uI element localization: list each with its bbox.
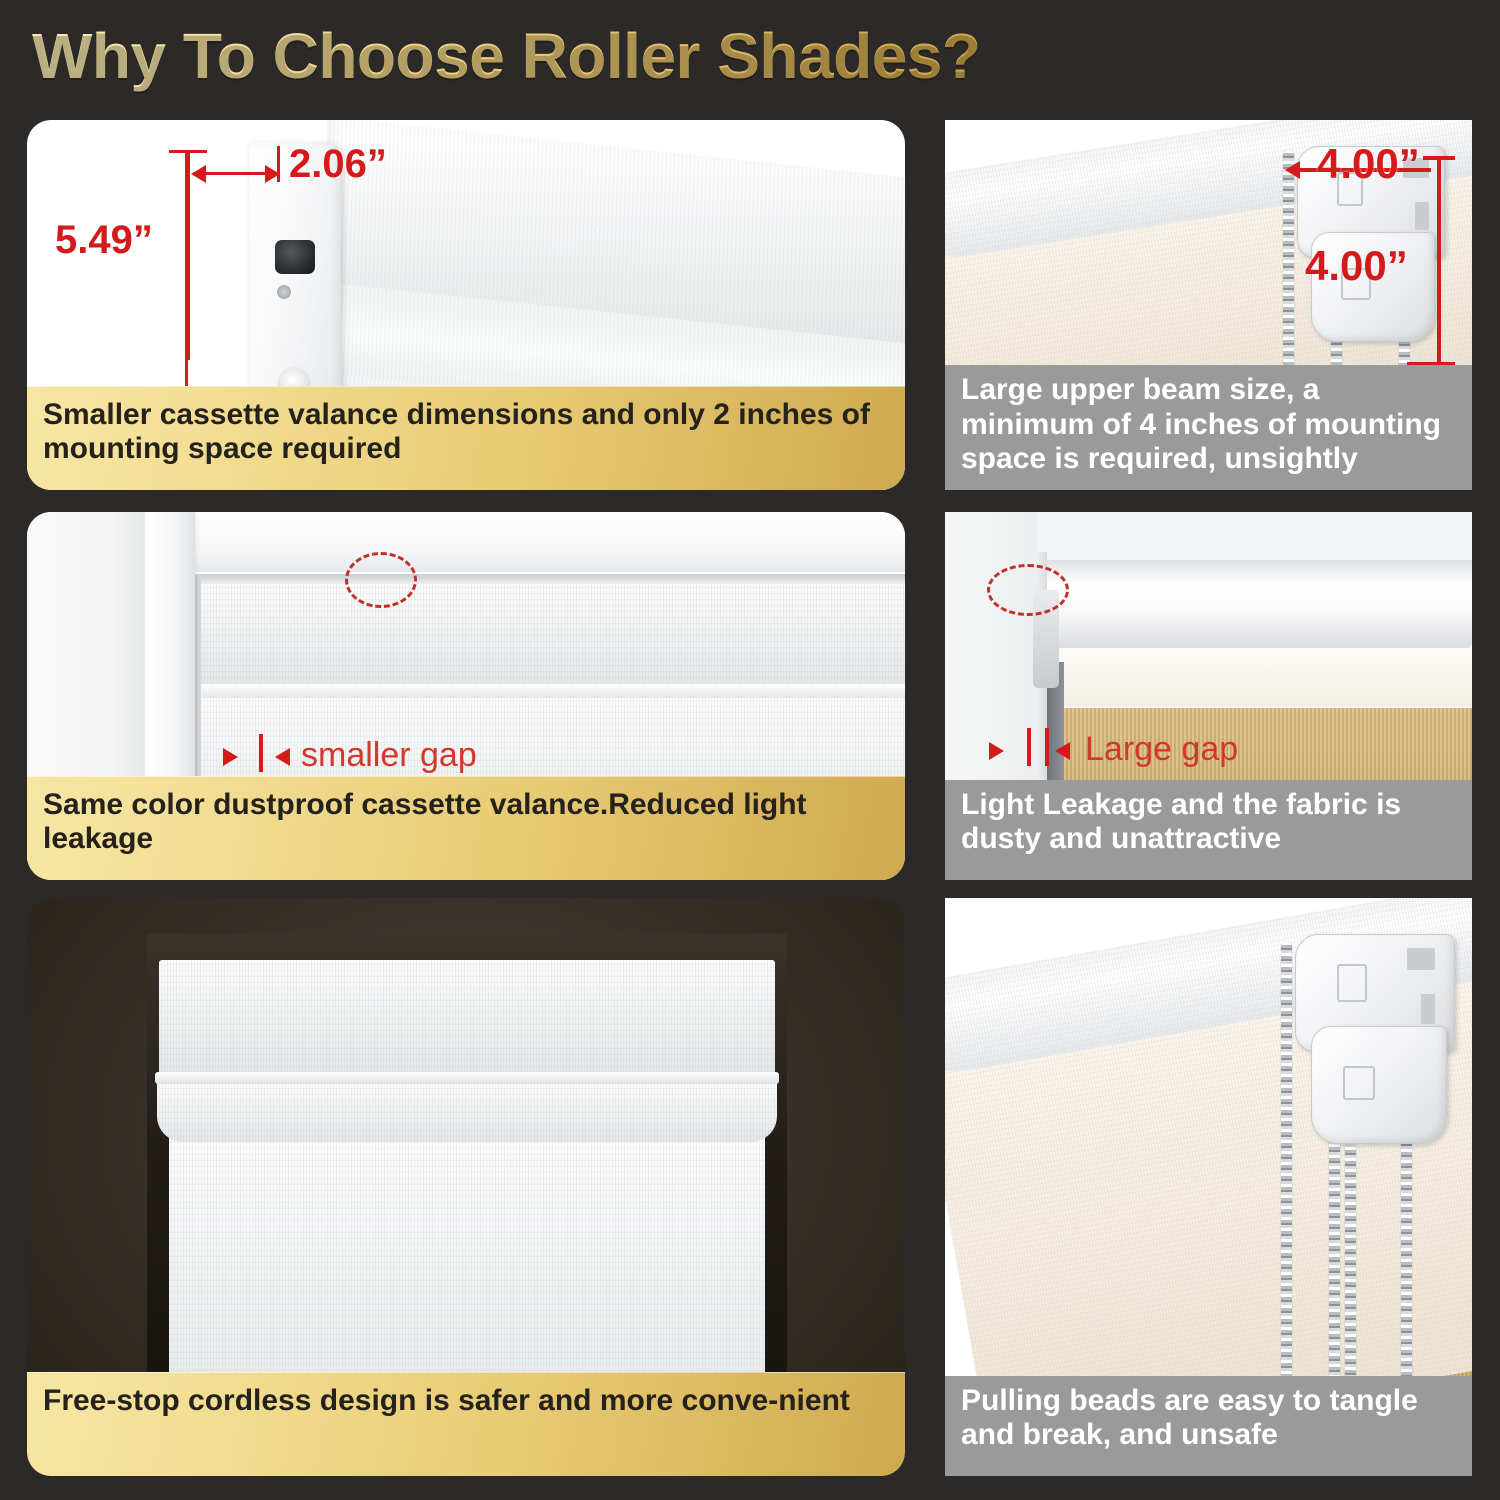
bracket-notch-top [1407, 948, 1435, 970]
page-title: Why To Choose Roller Shades? [32, 19, 980, 93]
cassette-bottom-lip [199, 684, 905, 698]
shade-fabric-upper [199, 584, 905, 689]
cassette-valance [159, 960, 775, 1078]
gap-arrow-right [1055, 742, 1070, 760]
dim-v-cap-top [1423, 156, 1455, 160]
gap-arrow-left [223, 748, 238, 766]
caption-cassette-valance: Smaller cassette valance dimensions and … [27, 386, 905, 490]
gap-arrow-right [275, 748, 290, 766]
annotation-large-gap: Large gap [1085, 730, 1238, 769]
dimension-label-side: 4.00” [1305, 242, 1408, 290]
highlight-circle [345, 552, 417, 608]
caption-light-leakage-dusty-fabric: Light Leakage and the fabric is dusty an… [945, 780, 1472, 880]
bracket-notch-mid [1421, 994, 1435, 1024]
bracket-slot-lower [1343, 1066, 1375, 1100]
annotation-smaller-gap: smaller gap [301, 736, 477, 775]
bead-chain-4 [1401, 1138, 1412, 1412]
gap-tick-2 [1045, 728, 1049, 766]
dim-v-line [1437, 156, 1441, 366]
dim-height-cap-top [169, 150, 207, 153]
gap-tick-1 [1027, 728, 1031, 766]
dim-h-arrow-left [1285, 161, 1300, 179]
panel-light-leakage-dusty-fabric: Large gap Light Leakage and the fabric i… [945, 512, 1472, 880]
gap-tick [259, 734, 263, 772]
valance-screw-small [277, 285, 291, 299]
bracket-endcap-lower [1311, 1026, 1447, 1144]
valance-lower-roll [157, 1080, 777, 1142]
panel-dustproof-cassette-valance: smaller gap Same color dustproof cassett… [27, 512, 905, 880]
bead-chain-1 [1283, 150, 1294, 402]
valance-mount-hole [275, 240, 315, 274]
roller-tube [1047, 560, 1472, 652]
dimension-label-height: 5.49” [55, 218, 153, 263]
panel-free-stop-cordless-design: Free-stop cordless design is safer and m… [27, 898, 905, 1476]
panel-cassette-valance-dimensions: 2.06” 5.49” Smaller cassette valance dim… [27, 120, 905, 490]
valance-lip [155, 1072, 779, 1084]
bracket-notch-mid [1415, 202, 1429, 230]
panel-pulling-beads-tangle: Pulling beads are easy to tangle and bre… [945, 898, 1472, 1476]
dim-width-arrow-left [191, 165, 206, 183]
header: Why To Choose Roller Shades? [0, 0, 1500, 112]
caption-dustproof-cassette-valance: Same color dustproof cassette valance.Re… [27, 776, 905, 880]
gap-arrow-left [989, 742, 1004, 760]
bracket-slot-upper [1337, 964, 1367, 1002]
window-head-jamb [195, 512, 905, 572]
caption-large-upper-beam: Large upper beam size, a minimum of 4 in… [945, 365, 1472, 490]
highlight-circle [987, 564, 1069, 616]
dimension-label-top: 4.00” [1317, 140, 1420, 188]
caption-free-stop-cordless-design: Free-stop cordless design is safer and m… [27, 1372, 905, 1476]
dimension-label-width: 2.06” [289, 142, 387, 187]
cassette-valance-strip [199, 574, 905, 584]
panel-large-upper-beam: 4.00” 4.00” Large upper beam size, a min… [945, 120, 1472, 490]
shade-top-band [1057, 648, 1472, 706]
dim-width-arrow-right [265, 165, 280, 183]
bead-chain-1 [1281, 942, 1292, 1412]
caption-pulling-beads-tangle: Pulling beads are easy to tangle and bre… [945, 1376, 1472, 1476]
